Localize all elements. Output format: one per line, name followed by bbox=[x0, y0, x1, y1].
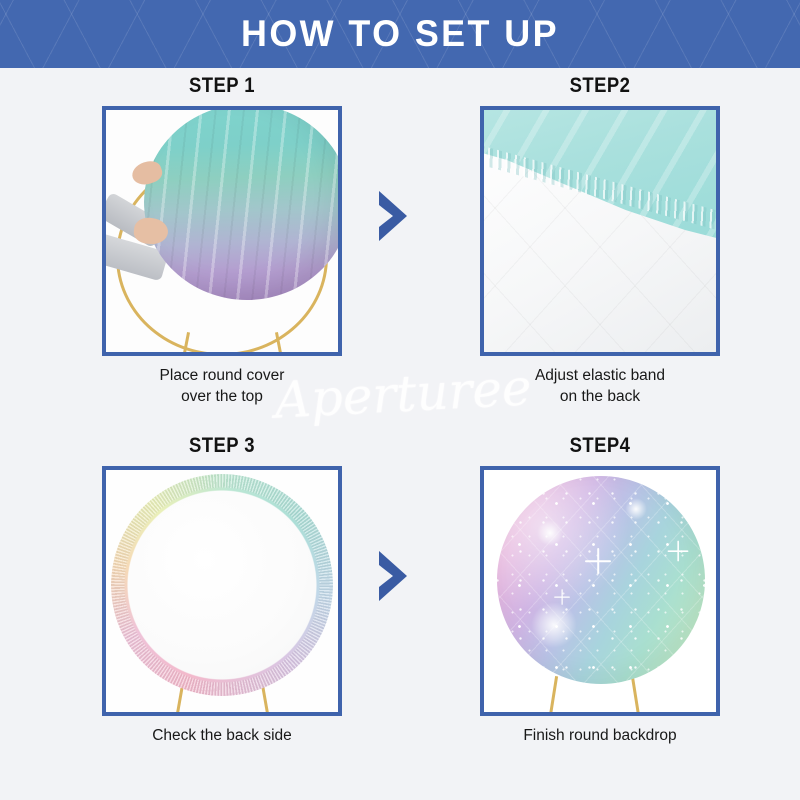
step-card-1: STEP 1 Place round cover bbox=[62, 74, 382, 408]
header-banner: HOW TO SET UP bbox=[0, 0, 800, 68]
step-caption-4: Finish round backdrop bbox=[440, 725, 760, 746]
step-caption-2: Adjust elastic band on the back bbox=[440, 365, 760, 408]
step-image-4 bbox=[484, 470, 716, 712]
step-image-1 bbox=[106, 110, 338, 352]
how-to-set-up-infographic: HOW TO SET UP Aperturee STEP 1 bbox=[0, 0, 800, 800]
rim-stitch-texture bbox=[111, 474, 333, 696]
step-card-3: STEP 3 Check the back side bbox=[62, 434, 382, 746]
sparkle-icon bbox=[585, 548, 611, 574]
sparkle-icon bbox=[668, 541, 689, 562]
step-image-frame-3 bbox=[102, 466, 342, 716]
step-caption-3-line1: Check the back side bbox=[62, 725, 382, 746]
step-caption-3: Check the back side bbox=[62, 725, 382, 746]
step-caption-1-line1: Place round cover bbox=[62, 365, 382, 386]
step-card-4: STEP4 bbox=[440, 434, 760, 746]
step-label-3: STEP 3 bbox=[81, 434, 363, 458]
steps-grid: STEP 1 Place round cover bbox=[0, 68, 800, 800]
backdrop-glow-large bbox=[531, 602, 577, 648]
step-caption-1-line2: over the top bbox=[62, 386, 382, 407]
chevron-right-icon bbox=[375, 189, 409, 243]
sparkle-icon bbox=[554, 589, 570, 605]
step-caption-1: Place round cover over the top bbox=[62, 365, 382, 408]
step-image-frame-1 bbox=[102, 106, 342, 356]
step-label-2: STEP2 bbox=[459, 74, 741, 98]
page-title: HOW TO SET UP bbox=[12, 0, 788, 68]
step-label-1: STEP 1 bbox=[81, 74, 363, 98]
step-card-2: STEP2 Adjust elastic band on the back bbox=[440, 74, 760, 408]
chevron-right-icon bbox=[375, 549, 409, 603]
step-image-3 bbox=[106, 470, 338, 712]
step-image-2 bbox=[484, 110, 716, 352]
step-caption-2-line2: on the back bbox=[440, 386, 760, 407]
step-caption-2-line1: Adjust elastic band bbox=[440, 365, 760, 386]
step-image-frame-4 bbox=[480, 466, 720, 716]
backdrop-stars bbox=[497, 476, 705, 684]
step-caption-4-line1: Finish round backdrop bbox=[440, 725, 760, 746]
step-image-frame-2 bbox=[480, 106, 720, 356]
backdrop-glow-small-a bbox=[537, 520, 563, 546]
finished-backdrop-disc bbox=[497, 476, 705, 684]
step-label-4: STEP4 bbox=[459, 434, 741, 458]
backdrop-glow-small-b bbox=[625, 498, 647, 520]
